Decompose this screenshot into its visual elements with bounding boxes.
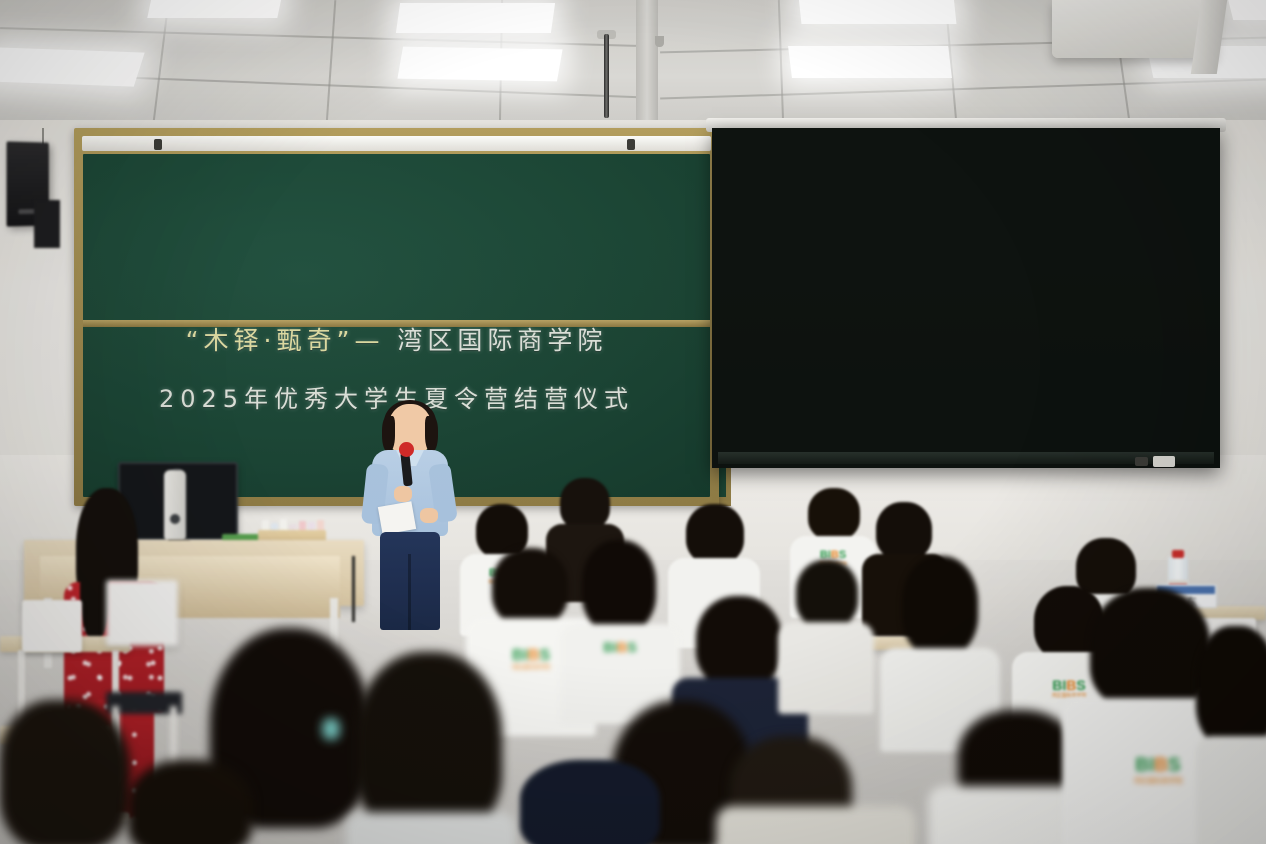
- chair: [22, 600, 82, 652]
- audience-member: [778, 560, 874, 710]
- blackboard-line-1-rest: 湾区国际商学院: [384, 326, 607, 355]
- screen-remote-holder[interactable]: [1153, 456, 1175, 467]
- hanging-rod: [604, 34, 609, 118]
- head: [1090, 588, 1210, 708]
- audience-member: [0, 700, 140, 844]
- presenter-leg-seam: [408, 554, 411, 630]
- ceiling-light: [799, 0, 957, 24]
- head: [492, 548, 568, 626]
- wall-speaker-mount: [34, 200, 60, 248]
- audience-member: [346, 652, 516, 844]
- ceiling-projector: EPSON: [1052, 0, 1217, 58]
- bottle-cap: [1172, 550, 1184, 558]
- blackboard-line-1-quote: “木铎·甄奇”—: [186, 326, 385, 355]
- presenter-hand-right: [420, 508, 438, 523]
- bibs-logo: BIBS: [586, 640, 654, 654]
- ceiling: EPSON: [0, 0, 1266, 128]
- classroom-photo: EPSON “木铎·甄奇”— 湾区国际商学院 2025年优秀大学生夏令营结营仪式: [0, 0, 1266, 844]
- presenter: [358, 404, 462, 630]
- ceiling-fixture: [655, 36, 664, 47]
- ceiling-light: [1227, 0, 1266, 20]
- head: [808, 488, 860, 540]
- head: [686, 504, 744, 564]
- torso: [778, 622, 874, 714]
- microphone-head: [399, 442, 414, 457]
- audience-member: [128, 760, 258, 844]
- torso: [346, 812, 516, 844]
- head: [356, 652, 502, 832]
- head: [1196, 626, 1266, 746]
- ceiling-light: [147, 0, 283, 18]
- hair-clip: [322, 718, 340, 740]
- head: [128, 760, 252, 844]
- ceiling-light: [396, 3, 555, 33]
- head: [560, 478, 610, 530]
- head: [582, 540, 656, 632]
- screen-control-box[interactable]: [1135, 457, 1148, 466]
- audience-member: [1196, 626, 1266, 844]
- ceiling-light: [0, 47, 145, 86]
- presenter-hand-left: [394, 486, 412, 502]
- head: [876, 502, 932, 560]
- audience-member: [716, 736, 916, 844]
- bibs-logo: BIBS: [1112, 756, 1204, 775]
- blackboard-rail: [83, 320, 710, 327]
- projection-screen: 木铎甄奇结营仪式.pptx - PowerPoint 文件 开始 插入 设计 切…: [712, 128, 1220, 468]
- torso: [716, 806, 916, 844]
- power-cable: [352, 556, 355, 622]
- presenter-hair-left: [382, 416, 395, 452]
- audience-member: [520, 760, 670, 844]
- presenter-hair-right: [425, 416, 438, 452]
- ceiling-light: [788, 46, 952, 78]
- head: [0, 700, 130, 844]
- head: [696, 596, 782, 688]
- head: [796, 560, 858, 628]
- chair: [106, 580, 178, 646]
- presenter-script: [378, 501, 416, 534]
- blackboard-lamp: [82, 136, 711, 151]
- head: [520, 760, 660, 844]
- head: [902, 556, 978, 656]
- audience-member: BIBS: [560, 540, 680, 715]
- ceiling-soffit: [636, 0, 658, 128]
- ceiling-light: [397, 47, 562, 82]
- torso: [1196, 736, 1266, 844]
